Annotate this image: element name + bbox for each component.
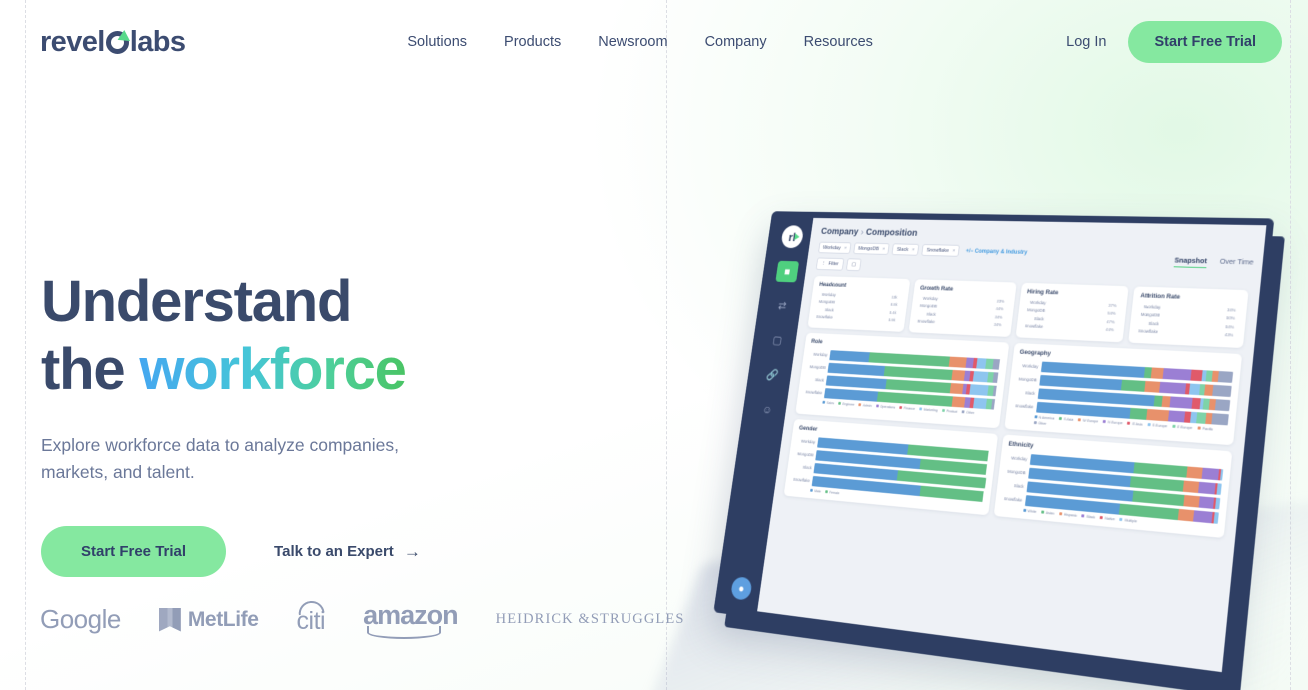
logo-google: Google xyxy=(40,604,121,635)
legend-item: S Europe xyxy=(1147,423,1167,428)
bar-row: MongoDB6.8k xyxy=(817,299,901,307)
compare-icon[interactable]: ⇄ xyxy=(770,295,794,317)
bar-value: 5.4k xyxy=(889,310,900,315)
nav-item-products[interactable]: Products xyxy=(504,34,561,50)
dashboard-main: Company›Composition Workday × MongoDB × … xyxy=(757,218,1266,672)
person-icon[interactable]: ☺ xyxy=(755,398,779,421)
bar-track xyxy=(1161,330,1222,338)
bar-row: MongoDB50% xyxy=(1138,312,1239,321)
filter-button[interactable]: ⋮ Filter xyxy=(816,257,845,270)
bar-track xyxy=(1046,324,1104,331)
legend-item: E Europe xyxy=(1172,424,1193,429)
bar-label: Snowflake xyxy=(1136,329,1158,335)
bar-label: Slack xyxy=(793,464,812,470)
talk-to-expert-label: Talk to an Expert xyxy=(274,543,394,560)
logo-metlife: MetLife xyxy=(159,608,259,632)
amazon-smile-icon xyxy=(367,626,441,639)
bar-row: Snowflake43% xyxy=(1136,328,1237,338)
bar-label: Workday xyxy=(1018,363,1039,369)
hero-section: Understand the workforce Explore workfor… xyxy=(41,268,601,577)
legend-item: Multiple xyxy=(1120,517,1138,523)
legend-item: W Europe xyxy=(1078,418,1099,423)
bar-track xyxy=(938,312,992,319)
bar-label: MongoDB xyxy=(1025,308,1046,314)
close-icon[interactable]: × xyxy=(911,247,915,252)
card-title: Growth Rate xyxy=(920,285,1010,295)
legend-item: Sales xyxy=(822,400,834,404)
bar-track xyxy=(1162,313,1223,321)
logo-circle-icon xyxy=(106,31,129,54)
bar-label: Snowflake xyxy=(1013,403,1034,409)
logo-text-part2: labs xyxy=(130,26,186,59)
filter-icon: ⋮ xyxy=(821,261,826,266)
bar-track xyxy=(1162,321,1223,329)
headline-line-2-plain: the xyxy=(41,337,139,402)
bar-track xyxy=(838,293,889,300)
bar-track xyxy=(835,315,886,322)
headline-line-2-accent: workforce xyxy=(139,337,405,402)
filter-chip-snowflake[interactable]: Snowflake × xyxy=(922,244,961,257)
bar-label: Slack xyxy=(916,311,936,316)
bar-label: Slack xyxy=(806,376,825,382)
layout-guide-left xyxy=(25,0,26,690)
stacked-card: EthnicityWorkdayMongoDBSlackSnowflakeWhi… xyxy=(993,434,1232,538)
bar-label: Workday xyxy=(1139,304,1161,310)
bar-row: Workday34% xyxy=(1139,304,1240,313)
bar-row: Snowflake34% xyxy=(915,319,1005,328)
bar-label: MongoDB xyxy=(807,364,826,370)
bar-track xyxy=(1047,309,1105,316)
bar-value: 34% xyxy=(1227,307,1240,312)
arrow-right-icon: → xyxy=(404,543,421,560)
bar-row: Slack5.4k xyxy=(815,307,900,315)
report-icon[interactable]: ■ xyxy=(775,261,799,283)
legend-item: White xyxy=(1023,508,1037,513)
legend-item: Male xyxy=(810,488,821,493)
close-icon[interactable]: × xyxy=(952,248,956,254)
main-nav: Solutions Products Newsroom Company Reso… xyxy=(407,34,873,50)
legend-item: Marketing xyxy=(919,407,938,412)
legend-item: Finance xyxy=(899,406,915,411)
stacked-card: GeographyWorkdayMongoDBSlackSnowflakeN A… xyxy=(1004,342,1242,444)
card-title: Hiring Rate xyxy=(1027,289,1122,299)
bar-value: 6.8k xyxy=(890,302,901,307)
legend-item: Native xyxy=(1100,515,1115,520)
bar-label: Workday xyxy=(919,296,939,301)
chip-label: Snowflake xyxy=(926,247,949,253)
legend-item: N America xyxy=(1034,415,1055,420)
legend-item: Other xyxy=(1033,421,1047,426)
bar-value: 44% xyxy=(996,307,1007,312)
bar-value: 34% xyxy=(994,322,1005,327)
bar-label: Slack xyxy=(1003,482,1024,489)
landing-page: revellabs Solutions Products Newsroom Co… xyxy=(0,0,1308,690)
bar-value: 54% xyxy=(1107,311,1119,316)
document-icon[interactable]: ▢ xyxy=(765,329,789,351)
card-title: Attrition Rate xyxy=(1140,292,1241,302)
legend-item: Other xyxy=(962,410,975,415)
legend-item: S Asia xyxy=(1059,416,1074,421)
legend-item: Admin xyxy=(859,403,872,408)
talk-to-expert-link[interactable]: Talk to an Expert → xyxy=(274,543,421,560)
legend-item: Product xyxy=(942,408,958,413)
bar-value: 50% xyxy=(1226,316,1239,321)
bar-track xyxy=(940,297,994,304)
breadcrumb-current: Composition xyxy=(865,228,918,239)
logo-heidrick-struggles: HEIDRICK & STRUGGLES xyxy=(496,610,685,630)
bar-label: Snowflake xyxy=(1023,324,1044,330)
chip-label: Slack xyxy=(896,247,908,253)
bar-label: MongoDB xyxy=(1138,312,1160,318)
bar-label: Slack xyxy=(815,307,834,312)
close-icon[interactable]: × xyxy=(882,246,885,251)
bar-value: 43% xyxy=(1224,332,1237,338)
bar-label: Workday xyxy=(1007,455,1028,461)
bar-track xyxy=(837,300,888,307)
legend-item: Hispanic xyxy=(1059,512,1077,518)
layout-guide-center xyxy=(666,0,667,690)
bar-label: MongoDB xyxy=(795,451,814,457)
chip-label: MongoDB xyxy=(858,246,879,252)
bar-label: Snowflake xyxy=(791,476,810,482)
legend-item: Asian xyxy=(1041,510,1055,515)
stacked-card: RoleWorkdayMongoDBSlackSnowflakeSalesEng… xyxy=(795,332,1009,428)
bar-label: MongoDB xyxy=(817,300,836,305)
legend-item: Pacific xyxy=(1197,426,1213,431)
filter-chip-mongodb[interactable]: MongoDB × xyxy=(853,242,890,254)
metric-card: Growth RateWorkday23%MongoDB44%Slack34%S… xyxy=(908,279,1016,336)
stacked-card: GenderWorkdayMongoDBSlackSnowflakeMaleFe… xyxy=(784,418,998,514)
bar-track xyxy=(1046,317,1104,324)
nav-item-newsroom[interactable]: Newsroom xyxy=(598,34,667,50)
dashboard-card-grid: HeadcountWorkday13kMongoDB6.8kSlack5.4kS… xyxy=(768,276,1249,662)
bar-row: MongoDB44% xyxy=(917,303,1006,311)
legend-item: Female xyxy=(825,490,840,495)
bar-value: 23% xyxy=(997,299,1008,304)
bar-track xyxy=(1048,301,1106,308)
close-icon[interactable]: × xyxy=(844,245,847,250)
bar-track xyxy=(939,304,993,311)
bar-value: 47% xyxy=(1106,319,1118,324)
bar-label: Snowflake xyxy=(804,389,823,395)
bookmark-icon[interactable]: ▢ xyxy=(846,258,862,271)
metric-card: Hiring RateWorkday37%MongoDB54%Slack47%S… xyxy=(1015,283,1129,342)
bar-label: Slack xyxy=(1024,316,1045,322)
metric-card: Attrition RateWorkday34%MongoDB50%Slack5… xyxy=(1128,286,1248,347)
legend-item: N Europe xyxy=(1103,419,1123,424)
citi-arc-icon xyxy=(298,599,325,615)
add-company-industry-link[interactable]: +/− Company & Industry xyxy=(965,248,1027,255)
card-title: Headcount xyxy=(819,281,904,290)
nav-item-solutions[interactable]: Solutions xyxy=(407,34,467,50)
hero-subhead: Explore workforce data to analyze compan… xyxy=(41,432,461,486)
legend-item: E Asia xyxy=(1127,421,1142,426)
logo-metlife-label: MetLife xyxy=(188,608,259,632)
legend-item: Engineer xyxy=(838,401,855,406)
brand-logo[interactable]: revellabs xyxy=(40,26,185,59)
metlife-mark-icon xyxy=(159,608,181,632)
hero-start-free-trial-button[interactable]: Start Free Trial xyxy=(41,526,226,577)
bar-label: Workday xyxy=(1025,300,1046,305)
mockup-tilted-card: rl ■ ⇄ ▢ 🔗 ☺ ● Company›Composition Workd… xyxy=(713,211,1274,680)
legend-item: Operations xyxy=(876,404,896,409)
bar-track xyxy=(1163,305,1224,312)
login-link[interactable]: Log In xyxy=(1066,34,1106,50)
bar-label: Slack xyxy=(1015,389,1036,395)
filter-chip-slack[interactable]: Slack × xyxy=(892,243,920,255)
logo-heidrick-line2: STRUGGLES xyxy=(591,610,685,630)
bar-value: 13k xyxy=(891,295,902,300)
bar-label: MongoDB xyxy=(1005,468,1026,475)
breadcrumb-separator: › xyxy=(860,228,864,238)
header-actions: Log In Start Free Trial xyxy=(1066,21,1282,63)
bar-track xyxy=(937,320,991,327)
bar-row: Workday13k xyxy=(818,292,902,300)
dashboard-mockup: rl ■ ⇄ ▢ 🔗 ☺ ● Company›Composition Workd… xyxy=(700,200,1260,670)
link-icon[interactable]: 🔗 xyxy=(760,364,784,387)
bar-label: MongoDB xyxy=(1016,376,1037,382)
bar-row: Workday37% xyxy=(1025,300,1120,309)
bar-row: MongoDB54% xyxy=(1024,308,1119,317)
bar-label: Workday xyxy=(809,351,828,356)
logo-heidrick-line1: HEIDRICK & xyxy=(496,610,591,630)
bar-row: Snowflake5.9k xyxy=(814,314,899,322)
bar-track xyxy=(836,308,887,315)
bar-label: Slack xyxy=(1137,320,1159,326)
legend-item: Black xyxy=(1082,514,1096,519)
chip-label: Workday xyxy=(823,245,842,251)
bar-value: 54% xyxy=(1225,324,1238,329)
customer-logo-strip: Google MetLife citi amazon HEIDRICK & ST… xyxy=(40,600,685,639)
logo-citi: citi xyxy=(297,604,326,636)
logo-amazon: amazon xyxy=(363,600,458,639)
nav-item-company[interactable]: Company xyxy=(705,34,767,50)
logo-text-part1: revel xyxy=(40,26,105,59)
breadcrumb-root[interactable]: Company xyxy=(820,227,859,237)
bar-label: MongoDB xyxy=(918,304,938,309)
hero-cta-row: Start Free Trial Talk to an Expert → xyxy=(41,526,601,577)
header-start-free-trial-button[interactable]: Start Free Trial xyxy=(1128,21,1282,63)
bar-label: Snowflake xyxy=(814,314,833,319)
site-header: revellabs Solutions Products Newsroom Co… xyxy=(0,0,1308,84)
dashboard-logo-icon[interactable]: rl xyxy=(780,225,804,248)
bar-label: Snowflake xyxy=(1002,495,1023,502)
bar-value: 44% xyxy=(1105,327,1117,332)
bar-row: Snowflake44% xyxy=(1023,323,1118,332)
metric-card: HeadcountWorkday13kMongoDB6.8kSlack5.4kS… xyxy=(808,276,911,331)
bar-row: Workday23% xyxy=(919,296,1008,304)
bar-label: Workday xyxy=(797,438,816,444)
filter-chip-workday[interactable]: Workday × xyxy=(818,242,852,254)
bar-label: Workday xyxy=(818,292,837,297)
filter-label: Filter xyxy=(828,261,839,267)
user-avatar-icon[interactable]: ● xyxy=(730,576,753,601)
bar-value: 5.9k xyxy=(888,318,899,323)
bar-value: 34% xyxy=(995,314,1006,319)
bar-value: 37% xyxy=(1108,303,1120,308)
page-title: Understand the workforce xyxy=(41,268,601,404)
headline-line-1: Understand xyxy=(41,269,351,334)
nav-item-resources[interactable]: Resources xyxy=(804,34,873,50)
bar-label: Snowflake xyxy=(915,319,935,324)
